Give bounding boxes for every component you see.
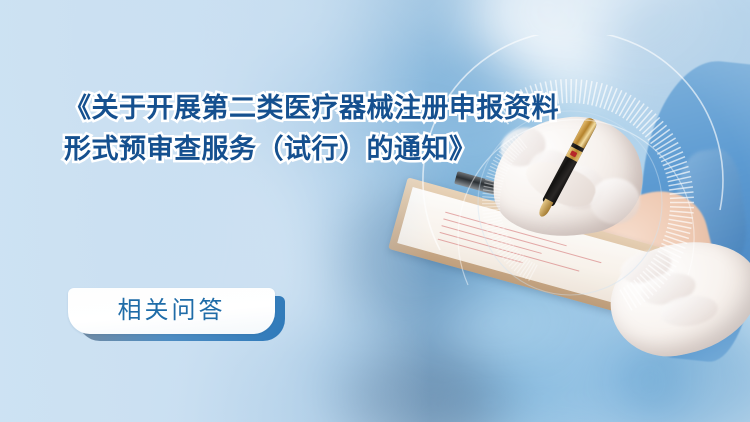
left-haze-overlay — [0, 0, 430, 422]
related-qa-button-label: 相关问答 — [118, 299, 226, 323]
title-line-1: 《关于开展第二类医疗器械注册申报资料 — [64, 88, 544, 129]
title-line-2: 形式预审查服务（试行）的通知》 — [64, 129, 544, 170]
banner-title: 《关于开展第二类医疗器械注册申报资料 形式预审查服务（试行）的通知》 — [64, 88, 544, 170]
related-qa-button[interactable]: 相关问答 — [68, 288, 275, 334]
promo-banner: 《关于开展第二类医疗器械注册申报资料 形式预审查服务（试行）的通知》 相关问答 — [0, 0, 750, 422]
